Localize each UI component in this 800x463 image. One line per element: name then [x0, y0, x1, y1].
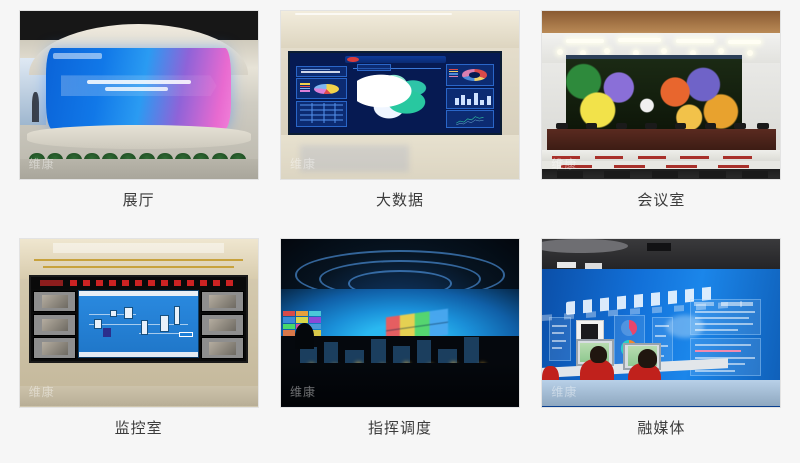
kpi-panel [296, 66, 346, 76]
seating-row-2 [542, 161, 780, 169]
floor [542, 380, 780, 407]
wood-ceiling [542, 11, 780, 33]
camera-feed [33, 291, 76, 313]
scada-process-diagram [78, 290, 198, 358]
floor [20, 159, 258, 179]
camera-feed [201, 291, 244, 313]
camera-feed [33, 314, 76, 336]
led-video-wall [29, 275, 248, 362]
camera-feed [201, 314, 244, 336]
scada-legend [179, 332, 193, 337]
video-wall-dashboard [288, 51, 502, 135]
camera-feed [201, 337, 244, 359]
gallery-item-caption: 指挥调度 [368, 421, 432, 436]
gallery-item[interactable]: 维康 大数据 [275, 10, 524, 232]
scene-converged-media-center: 维康 [542, 239, 780, 407]
gallery-item-caption: 会议室 [637, 193, 685, 208]
operator-head [590, 346, 607, 363]
image-gallery-grid: 维康 展厅 [0, 0, 800, 463]
welcome-banner [31, 277, 246, 289]
operator-head [638, 349, 657, 367]
gallery-item[interactable]: 维康 融媒体 [537, 238, 786, 460]
wall-panel [549, 317, 570, 360]
screen-headline-line-1 [87, 80, 191, 84]
china-map [357, 71, 437, 121]
bar-chart [453, 92, 493, 106]
screen-logo [53, 53, 101, 59]
gallery-thumbnail-monitoring-room[interactable]: 维康 [19, 238, 259, 408]
scada-tank [103, 328, 111, 337]
screen-headline-line-2 [105, 87, 168, 91]
gallery-item[interactable]: 维康 监控室 [14, 238, 263, 460]
scada-node [174, 306, 180, 326]
scene-big-data-room: 维康 [281, 11, 519, 179]
seating-row-3 [542, 169, 780, 179]
line-chart-panel [446, 110, 494, 128]
gallery-item[interactable]: 维康 指挥调度 [275, 238, 524, 460]
donut-chart [462, 69, 487, 81]
pie-chart-panel [296, 78, 346, 99]
gallery-item[interactable]: 维康 会议室 [537, 10, 786, 232]
scada-node [160, 315, 169, 332]
scada-toolbar [79, 291, 197, 296]
gallery-thumbnail-command-dispatch[interactable]: 维康 [280, 238, 520, 408]
ceiling-ring [541, 239, 628, 253]
gallery-item-caption: 大数据 [376, 193, 424, 208]
foreground-shadow [281, 363, 519, 407]
banner-text [70, 280, 233, 285]
camera-feed [33, 337, 76, 359]
scada-node [94, 319, 102, 330]
technician-silhouette [295, 323, 314, 350]
gallery-item-caption: 监控室 [115, 421, 163, 436]
visitor-silhouette [32, 92, 39, 122]
seating-row-1 [542, 150, 780, 160]
scada-node [141, 320, 148, 335]
ceiling-light-strip [295, 13, 452, 15]
curved-led-screen [46, 48, 232, 129]
ceiling [281, 11, 519, 48]
ceiling-spot [557, 262, 576, 268]
donut-chart-panel [446, 64, 494, 86]
podium-desk [547, 129, 775, 151]
pie-chart [621, 320, 637, 337]
led-screen-flower-content [566, 55, 742, 134]
scene-exhibition-hall: 维康 [20, 11, 258, 179]
status-tile [357, 64, 391, 71]
scene-command-dispatch: 维康 [281, 239, 519, 407]
scene-monitoring-room: 维康 [20, 239, 258, 407]
gallery-thumbnail-conference-room[interactable]: 维康 [541, 10, 781, 180]
pie-chart [314, 84, 339, 95]
scada-node [110, 310, 117, 318]
gallery-item-caption: 融媒体 [637, 421, 685, 436]
gallery-item-caption: 展厅 [123, 193, 155, 208]
floor-reflection [300, 145, 409, 172]
data-table-panel [296, 101, 346, 127]
scada-node [124, 307, 132, 319]
line-chart [449, 115, 491, 126]
ceiling-projector [647, 243, 671, 250]
gallery-item[interactable]: 维康 展厅 [14, 10, 263, 232]
wall-list-panel [690, 338, 761, 376]
led-wall [542, 269, 780, 397]
ceiling [20, 239, 258, 279]
floor [20, 386, 258, 406]
gallery-thumbnail-big-data[interactable]: 维康 [280, 10, 520, 180]
banner-logo [40, 280, 64, 286]
dashboard-title-bar [345, 56, 446, 63]
wall-list-panel [690, 299, 761, 335]
scene-conference-room: 维康 [542, 11, 780, 179]
scada-statusbar [79, 352, 197, 357]
bar-chart-panel [446, 88, 494, 109]
gallery-thumbnail-exhibition-hall[interactable]: 维康 [19, 10, 259, 180]
gallery-thumbnail-converged-media[interactable]: 维康 [541, 238, 781, 408]
